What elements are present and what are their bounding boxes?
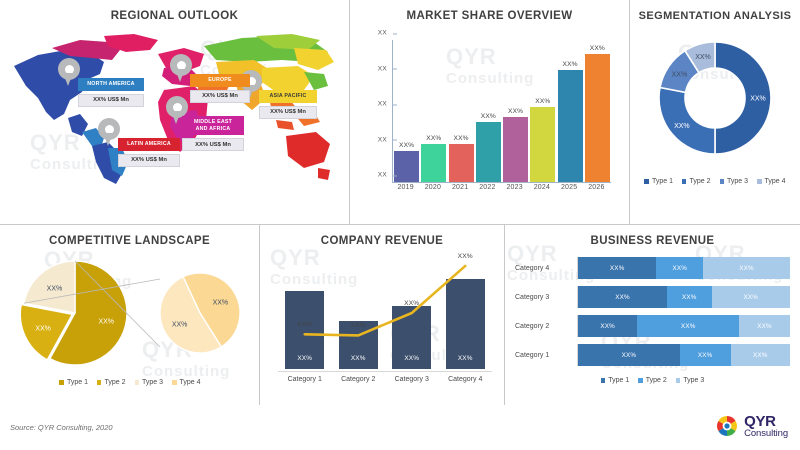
legend-item[interactable]: Type 3 xyxy=(720,178,749,185)
segmentation-chart: XX%XX%XX%XX% Type 1Type 2Type 3Type 4 xyxy=(630,26,800,224)
legend-swatch xyxy=(676,378,681,383)
table-row[interactable]: Category 4XX%XX%XX% xyxy=(515,257,790,279)
stacked-bar-segment[interactable]: XX% xyxy=(656,257,703,279)
legend-swatch xyxy=(172,380,177,385)
market-share-plot: XX%XX%XX%XX%XX%XX%XX%XX% XXXXXXXXXX xyxy=(392,40,611,183)
bar[interactable]: XX% xyxy=(285,291,324,369)
business-revenue-rows: Category 4XX%XX%XX%Category 3XX%XX%XX%Ca… xyxy=(515,257,790,373)
bar-cell[interactable]: XX% xyxy=(392,257,431,369)
panel-company-revenue: COMPANY REVENUE QYR Consulting QYR Consu… xyxy=(260,225,505,405)
stacked-bar-segment[interactable]: XX% xyxy=(667,286,712,308)
region-value: XX% US$ Mn xyxy=(182,138,244,151)
stacked-bar-segment[interactable]: XX% xyxy=(578,344,680,366)
market-share-bars: XX%XX%XX%XX%XX%XX%XX%XX% xyxy=(393,40,611,182)
competitive-chart: XX%XX%XX%XX%XX% Type 1Type 2Type 3Type 4 xyxy=(0,251,260,403)
bar-cell[interactable]: XX% xyxy=(285,257,324,369)
legend-swatch xyxy=(97,380,102,385)
panel-market-share: MARKET SHARE OVERVIEW QYR Consulting XX%… xyxy=(350,0,630,224)
legend-item[interactable]: Type 2 xyxy=(638,377,667,384)
legend-label: Type 2 xyxy=(104,379,125,386)
y-axis-tick: XX xyxy=(378,172,393,179)
stacked-bar: XX%XX%XX% xyxy=(577,315,790,337)
bar-value-label: XX% xyxy=(449,135,474,144)
bar-value-label: XX% xyxy=(394,142,419,151)
pie-of-pie-chart: XX%XX%XX%XX%XX% xyxy=(0,251,260,381)
line-point-label: XX% xyxy=(283,321,327,328)
legend-item[interactable]: Type 1 xyxy=(644,178,673,185)
x-axis-tick: 2026 xyxy=(584,184,609,191)
panel-title-market-share: MARKET SHARE OVERVIEW xyxy=(350,0,629,22)
bar[interactable]: XX% xyxy=(394,151,419,182)
bar-value-label: XX% xyxy=(339,355,378,362)
stacked-bar: XX%XX%XX% xyxy=(577,257,790,279)
pinwheel-logo-icon xyxy=(715,414,739,438)
x-axis-tick: 2019 xyxy=(393,184,418,191)
panel-regional-outlook: REGIONAL OUTLOOK QYR Consulting QYR Cons… xyxy=(0,0,350,224)
bar[interactable]: XX% xyxy=(585,54,610,182)
panel-title-company-revenue: COMPANY REVENUE xyxy=(260,225,504,247)
category-label: Category 1 xyxy=(515,352,577,359)
map-pin-latin-america[interactable] xyxy=(98,118,120,148)
donut-slice-label: XX% xyxy=(672,71,688,78)
map-label-north-america[interactable]: NORTH AMERICA XX% US$ Mn xyxy=(78,78,144,107)
company-revenue-x-axis: Category 1Category 2Category 3Category 4 xyxy=(278,371,492,383)
legend-swatch xyxy=(682,179,687,184)
line-point-label: XX% xyxy=(443,253,487,260)
legend-label: Type 4 xyxy=(180,379,201,386)
bar-cell[interactable]: XX% xyxy=(446,257,485,369)
legend-label: Type 1 xyxy=(652,178,673,185)
legend-item[interactable]: Type 2 xyxy=(97,379,126,386)
secondary-pie-slice-label: XX% xyxy=(172,322,188,329)
market-share-chart: XX%XX%XX%XX%XX%XX%XX%XX% XXXXXXXXXX 2019… xyxy=(350,28,630,223)
bar-cell[interactable]: XX% xyxy=(530,40,555,182)
region-value: XX% US$ Mn xyxy=(78,94,144,107)
legend-label: Type 1 xyxy=(608,377,629,384)
table-row[interactable]: Category 2XX%XX%XX% xyxy=(515,315,790,337)
map-pin-europe[interactable] xyxy=(170,54,192,84)
pie-slice-label: XX% xyxy=(35,326,51,333)
legend-item[interactable]: Type 4 xyxy=(172,379,201,386)
stacked-bar-segment[interactable]: XX% xyxy=(637,315,739,337)
competitive-legend: Type 1Type 2Type 3Type 4 xyxy=(0,379,260,386)
x-axis-tick: 2021 xyxy=(448,184,473,191)
bar-value-label: XX% xyxy=(530,98,555,107)
business-revenue-chart: Category 4XX%XX%XX%Category 3XX%XX%XX%Ca… xyxy=(505,251,800,403)
stacked-bar-segment[interactable]: XX% xyxy=(703,257,790,279)
panel-business-revenue: BUSINESS REVENUE QYR Consulting QYR Cons… xyxy=(505,225,800,405)
map-label-latin-america[interactable]: LATIN AMERICA XX% US$ Mn xyxy=(118,138,180,167)
category-label: Category 2 xyxy=(515,323,577,330)
legend-swatch xyxy=(135,380,140,385)
panel-segmentation: SEGMENTATION ANALYSIS QYR Consulting XX%… xyxy=(630,0,800,224)
stacked-bar: XX%XX%XX% xyxy=(577,286,790,308)
bar[interactable]: XX% xyxy=(530,107,555,182)
footer: Source: QYR Consulting, 2020 QYR Consult… xyxy=(0,405,800,450)
dashboard-row-bottom: COMPETITIVE LANDSCAPE QYR Consulting QYR… xyxy=(0,225,800,405)
stacked-bar-segment[interactable]: XX% xyxy=(578,315,637,337)
bar[interactable]: XX% xyxy=(446,279,485,369)
bar-value-label: XX% xyxy=(476,113,501,122)
legend-swatch xyxy=(644,179,649,184)
panel-competitive-landscape: COMPETITIVE LANDSCAPE QYR Consulting QYR… xyxy=(0,225,260,405)
business-revenue-legend: Type 1Type 2Type 3 xyxy=(505,377,800,384)
panel-title-segmentation: SEGMENTATION ANALYSIS xyxy=(630,0,800,22)
region-name: LATIN AMERICA xyxy=(118,138,180,151)
company-revenue-bars: XX%XX%XX%XX% xyxy=(278,257,492,369)
map-label-middle-east-africa[interactable]: MIDDLE EAST AND AFRICA XX% US$ Mn xyxy=(182,116,244,151)
world-map: NORTH AMERICA XX% US$ Mn EUROPE XX% US$ … xyxy=(0,26,350,222)
x-axis-tick: Category 2 xyxy=(339,376,378,383)
bar[interactable]: XX% xyxy=(449,144,474,182)
source-note: Source: QYR Consulting, 2020 xyxy=(10,423,113,432)
legend-label: Type 3 xyxy=(683,377,704,384)
x-axis-tick: 2022 xyxy=(475,184,500,191)
legend-label: Type 3 xyxy=(727,178,748,185)
bar-cell[interactable]: XX% xyxy=(339,257,378,369)
stacked-bar-segment[interactable]: XX% xyxy=(578,286,667,308)
bar[interactable]: XX% xyxy=(558,70,583,182)
bar-value-label: XX% xyxy=(285,355,324,362)
y-axis-tick: XX xyxy=(378,30,393,37)
panel-title-competitive-landscape: COMPETITIVE LANDSCAPE xyxy=(0,225,259,247)
x-axis-tick: Category 1 xyxy=(285,376,324,383)
legend-swatch xyxy=(638,378,643,383)
bar-value-label: XX% xyxy=(585,45,610,54)
map-label-europe[interactable]: EUROPE XX% US$ Mn xyxy=(190,74,250,103)
bar-value-label: XX% xyxy=(558,61,583,70)
donut-slice-label: XX% xyxy=(674,123,690,130)
legend-item[interactable]: Type 1 xyxy=(601,377,630,384)
category-label: Category 3 xyxy=(515,294,577,301)
bar[interactable]: XX% xyxy=(503,117,528,182)
logo-text: QYR Consulting xyxy=(744,414,788,439)
region-name: EUROPE xyxy=(190,74,250,87)
legend-label: Type 1 xyxy=(67,379,88,386)
pie-slice-label: XX% xyxy=(98,319,114,326)
dashboard-row-top: REGIONAL OUTLOOK QYR Consulting QYR Cons… xyxy=(0,0,800,225)
line-point-label: XX% xyxy=(390,300,434,307)
legend-item[interactable]: Type 2 xyxy=(682,178,711,185)
panel-title-regional-outlook: REGIONAL OUTLOOK xyxy=(0,0,349,22)
legend-item[interactable]: Type 1 xyxy=(59,379,88,386)
logo-secondary: Consulting xyxy=(744,429,788,439)
y-axis-tick: XX xyxy=(378,101,393,108)
bar-cell[interactable]: XX% xyxy=(558,40,583,182)
y-axis-tick: XX xyxy=(378,65,393,72)
bar[interactable]: XX% xyxy=(476,122,501,182)
market-share-x-axis: 20192020202120222023202420252026 xyxy=(392,184,610,191)
bar-cell[interactable]: XX% xyxy=(476,40,501,182)
legend-swatch xyxy=(757,179,762,184)
legend-label: Type 4 xyxy=(765,178,786,185)
secondary-pie-slice-label: XX% xyxy=(213,299,229,306)
legend-swatch xyxy=(59,380,64,385)
stacked-bar-segment[interactable]: XX% xyxy=(680,344,731,366)
qyr-logo[interactable]: QYR Consulting xyxy=(715,414,788,439)
legend-label: Type 2 xyxy=(689,178,710,185)
bar-cell[interactable]: XX% xyxy=(449,40,474,182)
x-axis-tick: 2025 xyxy=(557,184,582,191)
region-value: XX% US$ Mn xyxy=(190,90,250,103)
map-label-asia-pacific[interactable]: ASIA PACIFIC XX% US$ Mn xyxy=(259,90,317,119)
x-axis-tick: 2024 xyxy=(529,184,554,191)
segmentation-legend: Type 1Type 2Type 3Type 4 xyxy=(630,178,800,185)
panel-title-business-revenue: BUSINESS REVENUE xyxy=(505,225,800,247)
bar-value-label: XX% xyxy=(392,355,431,362)
bar-cell[interactable]: XX% xyxy=(503,40,528,182)
bar-value-label: XX% xyxy=(421,135,446,144)
company-revenue-plot: XX%XX%XX%XX% XX%XX%XX%XX% xyxy=(278,257,492,369)
region-name: NORTH AMERICA xyxy=(78,78,144,91)
bar-cell[interactable]: XX% xyxy=(585,40,610,182)
region-value: XX% US$ Mn xyxy=(118,154,180,167)
bar-value-label: XX% xyxy=(503,108,528,117)
table-row[interactable]: Category 3XX%XX%XX% xyxy=(515,286,790,308)
bar[interactable]: XX% xyxy=(421,144,446,182)
donut-slice-label: XX% xyxy=(695,54,711,61)
legend-label: Type 3 xyxy=(142,379,163,386)
region-value: XX% US$ Mn xyxy=(259,106,317,119)
region-name: MIDDLE EAST AND AFRICA xyxy=(182,116,244,135)
legend-swatch xyxy=(720,179,725,184)
map-pin-north-america[interactable] xyxy=(58,58,80,88)
region-name: ASIA PACIFIC xyxy=(259,90,317,103)
donut-chart: XX%XX%XX%XX% xyxy=(630,26,800,176)
line-point-label: XX% xyxy=(336,322,380,329)
dashboard: REGIONAL OUTLOOK QYR Consulting QYR Cons… xyxy=(0,0,800,450)
bar-cell[interactable]: XX% xyxy=(394,40,419,182)
legend-item[interactable]: Type 3 xyxy=(676,377,705,384)
donut-slice[interactable] xyxy=(659,88,715,154)
legend-item[interactable]: Type 4 xyxy=(757,178,786,185)
bar[interactable]: XX% xyxy=(392,306,431,369)
x-axis-tick: Category 4 xyxy=(446,376,485,383)
x-axis-tick: 2023 xyxy=(502,184,527,191)
category-label: Category 4 xyxy=(515,265,577,272)
x-axis-tick: Category 3 xyxy=(392,376,431,383)
stacked-bar: XX%XX%XX% xyxy=(577,344,790,366)
company-revenue-chart: XX%XX%XX%XX% XX%XX%XX%XX% Category 1Cate… xyxy=(260,251,505,403)
legend-item[interactable]: Type 3 xyxy=(135,379,164,386)
stacked-bar-segment[interactable]: XX% xyxy=(739,315,790,337)
legend-swatch xyxy=(601,378,606,383)
pie-slice-label: XX% xyxy=(47,286,63,293)
stacked-bar-segment[interactable]: XX% xyxy=(578,257,656,279)
stacked-bar-segment[interactable]: XX% xyxy=(731,344,790,366)
donut-slice-label: XX% xyxy=(750,96,766,103)
logo-primary: QYR xyxy=(744,414,788,429)
bar-value-label: XX% xyxy=(446,355,485,362)
table-row[interactable]: Category 1XX%XX%XX% xyxy=(515,344,790,366)
y-axis-tick: XX xyxy=(378,136,393,143)
stacked-bar-segment[interactable]: XX% xyxy=(712,286,790,308)
bar-cell[interactable]: XX% xyxy=(421,40,446,182)
x-axis-tick: 2020 xyxy=(420,184,445,191)
legend-label: Type 2 xyxy=(646,377,667,384)
